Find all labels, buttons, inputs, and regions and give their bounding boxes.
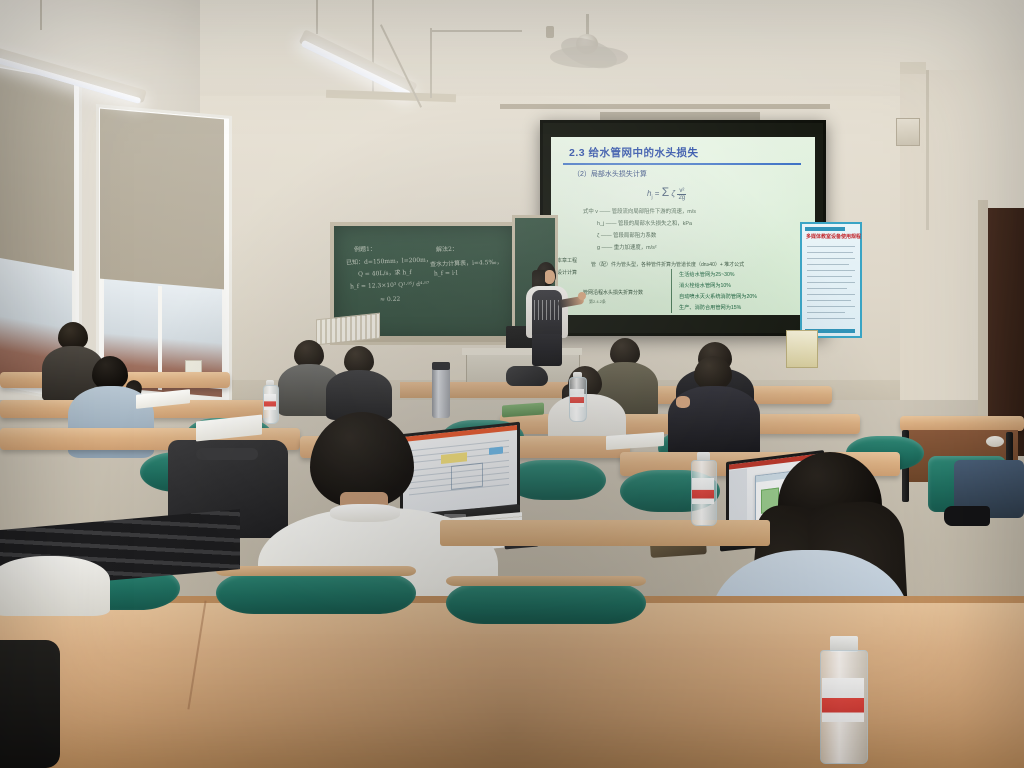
water-bottle-left-row[interactable]: [262, 380, 278, 422]
chalk-line-5: 查水力计算表，i=4.5‰，: [430, 257, 503, 269]
person-right-aisle: [944, 460, 1024, 580]
light-rod-3: [40, 0, 42, 30]
wall-speaker: [896, 118, 920, 146]
wall-notice-small: [786, 330, 818, 368]
window-blind-left-near[interactable]: [100, 109, 224, 290]
seat-foreground-right: [446, 582, 646, 624]
water-bottle-foreground-right[interactable]: [816, 636, 870, 762]
student-row3-suit-center: [326, 346, 392, 412]
desk-foreground: [0, 600, 1024, 768]
instructor-hand: [578, 292, 586, 300]
light-rod-1: [316, 0, 318, 34]
water-bottle-mid-right[interactable]: [690, 452, 716, 524]
ceiling-conduit: [430, 28, 432, 98]
instructor-vest-pattern: [534, 300, 560, 320]
poster-title: 多媒体教室设备使用规程: [806, 233, 856, 240]
presentation-slide: 2.3 给水管网中的水头损失 （2）局部水头损失计算 hj = Σ ζ v² 2…: [551, 137, 815, 315]
seat-foreground-right-trim: [446, 576, 646, 586]
poster-band-top: [805, 227, 845, 231]
chalk-heading-2: 解法2：: [436, 244, 458, 254]
projector-glare: [551, 137, 815, 315]
screen-rail: [500, 104, 830, 109]
shoe: [944, 506, 990, 526]
wall-poster: 多媒体教室设备使用规程: [800, 222, 862, 338]
chalk-line-1: 已知：d=150mm，l=200m，: [346, 255, 432, 267]
thermos-cap: [432, 362, 450, 370]
chalk-line-4: ≈ 0.22: [380, 296, 401, 304]
bottle-label-foreground: [822, 678, 864, 722]
student-front-left-edge: [0, 556, 110, 616]
backpack-strap: [196, 448, 258, 460]
chalk-line-6: h_f = i·l: [434, 270, 458, 278]
student-suit-right-hand: [676, 396, 690, 408]
ceiling-conduit-horizontal: [432, 30, 522, 32]
window-blind-left-far[interactable]: [0, 67, 74, 271]
fan-rod: [586, 14, 589, 36]
water-bottle-middle-row[interactable]: [568, 372, 586, 420]
computer-mouse[interactable]: [986, 436, 1004, 447]
instructor-skirt: [532, 334, 562, 366]
instructor: [510, 258, 584, 368]
wall-box-right: [900, 62, 926, 74]
seat-row1-b: [506, 460, 606, 500]
chalk-line-2: Q = 40L/s，求 h_f: [358, 267, 412, 278]
person-left-foreground-dark: [0, 640, 60, 768]
chalk-heading-1: 例题1：: [354, 244, 376, 254]
desk-row-mid: [440, 520, 770, 546]
chalk-line-3: h_f = 12.3×10³ Q¹·⁸⁵/ d⁴·⁸⁷: [350, 281, 429, 291]
classroom-photo: 2.3 给水管网中的水头损失 （2）局部水头损失计算 hj = Σ ζ v² 2…: [0, 0, 1024, 768]
student-suit-right: [668, 356, 760, 454]
instructor-face: [544, 270, 555, 284]
seat-foreground-center: [216, 572, 416, 614]
bag-on-podium: [506, 366, 548, 386]
wall-conduit-right: [926, 70, 929, 230]
desk-right-aisle: [900, 416, 1024, 431]
thermos-flask[interactable]: [432, 366, 450, 418]
seat-foreground-center-trim: [216, 566, 416, 576]
student-white-shirt-collar: [330, 504, 400, 522]
sprinkler-head: [546, 26, 554, 38]
